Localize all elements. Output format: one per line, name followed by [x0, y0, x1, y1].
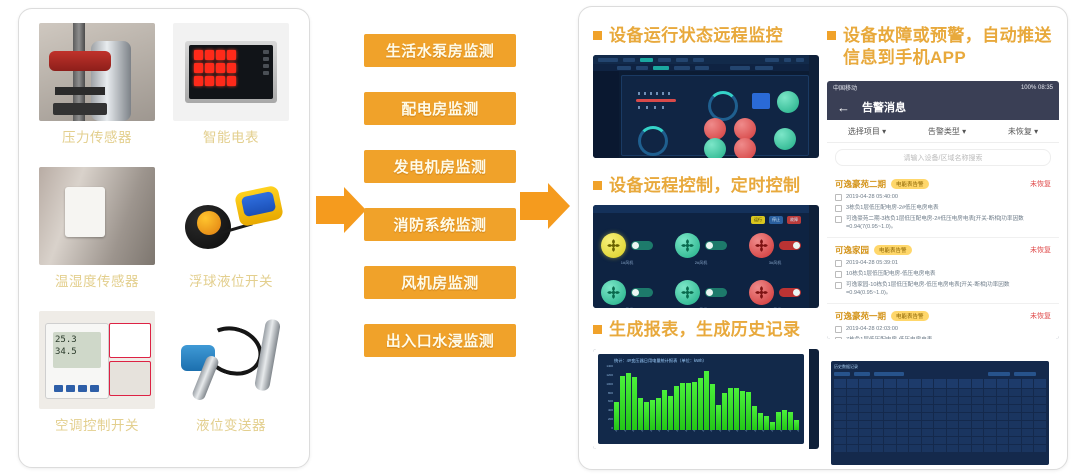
- platform-feature-panel: 设备运行状态远程监控: [578, 6, 1068, 470]
- sensor-label: 智能电表: [203, 126, 259, 146]
- dashboard-screenshot[interactable]: [593, 55, 819, 158]
- alarm-detail: 可逸家园-10栋负1层低压配电房-低压电房电表[开关-断相]功率因数=0.94(…: [846, 281, 1051, 297]
- table-header-cell: [909, 379, 921, 388]
- alarm-badge: 电能表告警: [891, 311, 929, 321]
- table-cell: [947, 429, 959, 436]
- table-cell: [972, 405, 984, 412]
- table-cell: [984, 445, 996, 452]
- chart-y-tick: 600: [608, 399, 613, 403]
- table-cell: [922, 389, 934, 396]
- table-cell: [972, 397, 984, 404]
- table-cell: [884, 389, 896, 396]
- legend-running: 运行: [751, 216, 765, 224]
- feature-block-remote-monitoring: 设备运行状态远程监控: [593, 25, 819, 158]
- table-header-cell: [872, 379, 884, 388]
- sensor-device-panel: 压力传感器 智能电表 温湿度传感器: [18, 8, 310, 468]
- table-header-cell: [984, 379, 996, 388]
- table-cell: [922, 397, 934, 404]
- fan-icon: [601, 233, 626, 258]
- scenario-list: 生活水泵房监测 配电房监测 发电机房监测 消防系统监测 风机房监测 出入口水浸监…: [364, 34, 516, 357]
- fan-icon: [749, 233, 774, 258]
- monitoring-scenario-column: 生活水泵房监测 配电房监测 发电机房监测 消防系统监测 风机房监测 出入口水浸监…: [352, 0, 564, 474]
- table-cell: [1022, 405, 1034, 412]
- table-cell: [934, 437, 946, 444]
- chart-bar: [752, 406, 757, 430]
- table-cell: [909, 405, 921, 412]
- chart-bar: [746, 392, 751, 430]
- table-cell: [972, 429, 984, 436]
- control-unit[interactable]: 3#风机: [749, 233, 801, 266]
- phone-page-title: 告警消息: [862, 99, 906, 115]
- table-header-cell: [1034, 379, 1046, 388]
- table-cell: [997, 429, 1009, 436]
- alarm-time: 2019-04-28 02:03:00: [846, 325, 898, 333]
- unit-label: 2#风机: [675, 260, 727, 266]
- alarm-project: 可逸家园: [835, 244, 869, 256]
- history-table-block: 历史数据记录: [827, 357, 1053, 469]
- table-cell: [959, 405, 971, 412]
- table-header-cell: [934, 379, 946, 388]
- sensor-grid: 压力传感器 智能电表 温湿度传感器: [19, 9, 309, 467]
- alarm-badge: 电能表告警: [874, 245, 912, 255]
- clock-icon: [835, 326, 842, 333]
- control-unit[interactable]: 5#风机: [675, 280, 727, 308]
- table-header-cell: [847, 379, 859, 388]
- table-cell: [834, 421, 846, 428]
- table-cell: [909, 397, 921, 404]
- chart-y-tick: 0: [611, 426, 613, 430]
- table-cell: [1034, 413, 1046, 420]
- table-cell: [847, 413, 859, 420]
- report-chart-screenshot[interactable]: 统计：4#变压器日用电量统计报表（单位：kWh） 140012001000800…: [593, 349, 819, 449]
- table-cell: [909, 413, 921, 420]
- chart-y-tick: 200: [608, 417, 613, 421]
- chart-bar: [686, 383, 691, 430]
- table-cell: [1022, 437, 1034, 444]
- feature-block-reports: 生成报表，生成历史记录 统计：4#变压器日用电量统计报表（单位：kWh） 140…: [593, 319, 819, 449]
- table-cell: [922, 405, 934, 412]
- feature-block-alarm-push: 设备故障或预警，自动推送信息到手机APP 中国移动 100% 08:35 ← 告…: [827, 25, 1059, 339]
- table-cell: [997, 445, 1009, 452]
- table-cell: [959, 389, 971, 396]
- table-cell: [947, 405, 959, 412]
- bullet-square-icon: [593, 325, 602, 334]
- chart-bar: [626, 373, 631, 430]
- alarm-detail: 可逸豪苑二期-3栋负1层低压配电房-2#低压电房电表[开关-断相]功率因数=0.…: [846, 215, 1051, 231]
- table-cell: [884, 397, 896, 404]
- table-cell: [997, 405, 1009, 412]
- unit-label: 5#风机: [675, 307, 727, 308]
- alarm-list-item[interactable]: 可逸家园 电能表告警 未恢复 2019-04-28 05:39:01 10栋负1…: [827, 238, 1059, 304]
- sensor-card-smart-meter[interactable]: 智能电表: [165, 23, 297, 165]
- table-cell: [884, 405, 896, 412]
- air-conditioner-control-switch-photo: 25.3 34.5: [39, 311, 155, 409]
- table-cell: [884, 429, 896, 436]
- table-cell: [922, 421, 934, 428]
- table-cell: [897, 389, 909, 396]
- table-cell: [909, 445, 921, 452]
- unit-label: 4#风机: [601, 307, 653, 308]
- table-cell: [947, 397, 959, 404]
- power-toggle[interactable]: [631, 288, 653, 297]
- clock-icon: [835, 194, 842, 201]
- phone-search-input[interactable]: 请输入设备/区域名称搜索: [835, 149, 1051, 166]
- sensor-card-pressure[interactable]: 压力传感器: [31, 23, 163, 165]
- sensor-card-float-switch[interactable]: 浮球液位开关: [165, 167, 297, 309]
- bullet-square-icon: [593, 181, 602, 190]
- table-cell: [1034, 429, 1046, 436]
- table-cell: [834, 413, 846, 420]
- chart-bar: [680, 383, 685, 430]
- table-cell: [1009, 389, 1021, 396]
- alarm-status: 未恢复: [1030, 179, 1051, 189]
- control-unit[interactable]: 1#风机: [601, 233, 653, 266]
- table-cell: [947, 445, 959, 452]
- alarm-list-item[interactable]: 可逸豪苑一期 电能表告警 未恢复 2019-04-28 02:03:00 7栋负…: [827, 304, 1059, 339]
- table-cell: [947, 389, 959, 396]
- table-cell: [909, 429, 921, 436]
- table-cell: [1034, 405, 1046, 412]
- alarm-status: 未恢复: [1030, 245, 1051, 255]
- table-cell: [1009, 421, 1021, 428]
- bullet-square-icon: [593, 31, 602, 40]
- table-cell: [884, 421, 896, 428]
- table-cell: [872, 421, 884, 428]
- section-title: 设备故障或预警，自动推送信息到手机APP: [843, 25, 1059, 69]
- fan-icon: [675, 280, 700, 305]
- sensor-label: 浮球液位开关: [189, 270, 273, 290]
- smart-meter-photo: [173, 23, 289, 121]
- control-screenshot[interactable]: 运行 停止 故障 1#风机: [593, 205, 819, 308]
- table-cell: [959, 437, 971, 444]
- table-cell: [959, 445, 971, 452]
- table-row[interactable]: [834, 421, 1046, 428]
- chart-bar: [722, 393, 727, 430]
- chart-y-tick: 1400: [606, 364, 613, 368]
- chart-bar: [764, 416, 769, 430]
- table-row[interactable]: [834, 445, 1046, 452]
- float-level-switch-photo: [173, 167, 289, 265]
- table-cell: [872, 437, 884, 444]
- scenario-item-entrance-flood[interactable]: 出入口水浸监测: [364, 324, 516, 357]
- table-cell: [834, 397, 846, 404]
- chart-y-tick: 800: [608, 391, 613, 395]
- chart-bar: [704, 371, 709, 430]
- table-cell: [897, 437, 909, 444]
- table-cell: [872, 445, 884, 452]
- table-cell: [922, 445, 934, 452]
- table-row[interactable]: [834, 429, 1046, 436]
- table-cell: [947, 421, 959, 428]
- table-cell: [934, 397, 946, 404]
- table-cell: [897, 405, 909, 412]
- chart-y-axis: 1400120010008006004002000: [600, 364, 613, 430]
- table-cell: [859, 429, 871, 436]
- table-cell: [884, 413, 896, 420]
- alarm-time: 2019-04-28 05:40:00: [846, 193, 898, 201]
- battery-time-label: 100% 08:35: [1021, 85, 1053, 91]
- table-header-cell: [859, 379, 871, 388]
- scenario-item-fan-room[interactable]: 风机房监测: [364, 266, 516, 299]
- chart-bar: [788, 412, 793, 430]
- table-cell: [847, 429, 859, 436]
- table-cell: [1009, 413, 1021, 420]
- table-cell: [1022, 389, 1034, 396]
- legend-stopped: 停止: [769, 216, 783, 224]
- unit-label: 6#风机: [749, 307, 801, 308]
- fan-icon: [749, 280, 774, 305]
- chart-bar: [674, 386, 679, 430]
- alarm-device: 7栋负1层低压配电房-低压电房电表: [846, 336, 932, 339]
- sensor-label: 温湿度传感器: [55, 270, 139, 290]
- table-row[interactable]: [834, 437, 1046, 444]
- chart-bar: [740, 391, 745, 430]
- table-cell: [834, 437, 846, 444]
- chart-bar: [650, 400, 655, 430]
- device-icon: [835, 271, 842, 278]
- table-cell: [922, 429, 934, 436]
- control-unit[interactable]: 4#风机: [601, 280, 653, 308]
- table-cell: [984, 429, 996, 436]
- chart-y-tick: 1000: [606, 382, 613, 386]
- table-cell: [884, 445, 896, 452]
- table-cell: [872, 405, 884, 412]
- table-cell: [1009, 429, 1021, 436]
- alarm-status: 未恢复: [1030, 311, 1051, 321]
- table-cell: [897, 445, 909, 452]
- table-cell: [1009, 405, 1021, 412]
- table-cell: [972, 445, 984, 452]
- info-icon: [835, 216, 842, 223]
- table-header-cell: [947, 379, 959, 388]
- alarm-project: 可逸豪苑一期: [835, 310, 886, 322]
- phone-status-bar: 中国移动 100% 08:35: [827, 81, 1059, 94]
- table-cell: [1009, 397, 1021, 404]
- table-header-cell: [997, 379, 1009, 388]
- table-row[interactable]: [834, 405, 1046, 412]
- table-cell: [934, 429, 946, 436]
- phone-filter-bar: 选择项目 ▾ 告警类型 ▾ 未恢复 ▾: [827, 120, 1059, 143]
- chart-bar: [692, 382, 697, 430]
- chart-bar: [770, 422, 775, 430]
- table-cell: [847, 397, 859, 404]
- table-cell: [859, 421, 871, 428]
- table-cell: [959, 397, 971, 404]
- power-toggle[interactable]: [705, 241, 727, 250]
- table-cell: [1034, 437, 1046, 444]
- power-toggle[interactable]: [779, 288, 801, 297]
- table-cell: [834, 389, 846, 396]
- table-cell: [897, 429, 909, 436]
- table-cell: [834, 445, 846, 452]
- table-cell: [859, 397, 871, 404]
- table-cell: [1009, 437, 1021, 444]
- device-icon: [835, 205, 842, 212]
- fan-icon: [601, 280, 626, 305]
- power-toggle[interactable]: [779, 241, 801, 250]
- table-title: 历史数据记录: [834, 364, 1046, 370]
- table-cell: [897, 397, 909, 404]
- pressure-sensor-photo: [39, 23, 155, 121]
- table-cell: [1009, 445, 1021, 452]
- chart-bar: [662, 390, 667, 430]
- table-cell: [997, 421, 1009, 428]
- carrier-label: 中国移动: [833, 83, 857, 92]
- scenario-item-water-pump[interactable]: 生活水泵房监测: [364, 34, 516, 67]
- chart-bar: [782, 410, 787, 430]
- table-cell: [947, 413, 959, 420]
- table-header-cell: [922, 379, 934, 388]
- table-cell: [909, 437, 921, 444]
- scenario-item-generator-room[interactable]: 发电机房监测: [364, 150, 516, 183]
- phone-app-screenshot[interactable]: 中国移动 100% 08:35 ← 告警消息 选择项目 ▾ 告警类型 ▾ 未恢复…: [827, 81, 1059, 339]
- chart-y-tick: 1200: [606, 373, 613, 377]
- unit-label: 3#风机: [749, 260, 801, 266]
- table-cell: [959, 413, 971, 420]
- table-cell: [847, 437, 859, 444]
- filter-project[interactable]: 选择项目 ▾: [848, 126, 886, 137]
- chart-bar: [716, 405, 721, 430]
- chart-bar: [728, 388, 733, 430]
- scenario-item-fire-system[interactable]: 消防系统监测: [364, 208, 516, 241]
- alarm-device: 3栋负1层低压配电房-2#低压电房电表: [846, 204, 939, 212]
- alarm-device: 10栋负1层低压配电房-低压电房电表: [846, 270, 936, 278]
- table-cell: [947, 437, 959, 444]
- table-cell: [959, 429, 971, 436]
- sensor-label: 压力传感器: [62, 126, 132, 146]
- table-cell: [934, 389, 946, 396]
- chart-bar: [710, 384, 715, 430]
- table-cell: [847, 421, 859, 428]
- sensor-card-level-transmitter[interactable]: 液位变送器: [165, 311, 297, 453]
- table-cell: [847, 405, 859, 412]
- info-icon: [835, 282, 842, 289]
- table-cell: [1022, 413, 1034, 420]
- table-cell: [1034, 421, 1046, 428]
- table-cell: [847, 445, 859, 452]
- table-header-cell: [897, 379, 909, 388]
- section-title: 设备运行状态远程监控: [609, 25, 783, 47]
- filter-alarm-type[interactable]: 告警类型 ▾: [928, 126, 966, 137]
- table-cell: [934, 413, 946, 420]
- table-cell: [984, 437, 996, 444]
- filter-status[interactable]: 未恢复 ▾: [1008, 126, 1038, 137]
- table-cell: [984, 405, 996, 412]
- table-header-cell: [884, 379, 896, 388]
- device-icon: [835, 337, 842, 339]
- table-cell: [872, 397, 884, 404]
- chart-y-tick: 400: [608, 408, 613, 412]
- table-header-cell: [1022, 379, 1034, 388]
- table-cell: [972, 413, 984, 420]
- table-cell: [922, 437, 934, 444]
- alarm-badge: 电能表告警: [891, 179, 929, 189]
- chart-bars: [614, 366, 799, 430]
- chart-bar: [698, 378, 703, 430]
- table-header-cell: [834, 379, 846, 388]
- table-header-cell: [959, 379, 971, 388]
- table-header-cell: [1009, 379, 1021, 388]
- table-cell: [1022, 397, 1034, 404]
- sensor-card-ac-switch[interactable]: 25.3 34.5 空调控制开关: [31, 311, 163, 453]
- chart-bar: [614, 402, 619, 430]
- scenario-item-power-room[interactable]: 配电房监测: [364, 92, 516, 125]
- table-cell: [984, 397, 996, 404]
- table-cell: [934, 445, 946, 452]
- alarm-list-item[interactable]: 可逸豪苑二期 电能表告警 未恢复 2019-04-28 05:40:00 3栋负…: [827, 172, 1059, 238]
- fan-icon: [675, 233, 700, 258]
- sensor-label: 液位变送器: [196, 414, 266, 434]
- chart-bar: [620, 376, 625, 430]
- chart-bar: [638, 398, 643, 430]
- table-cell: [984, 389, 996, 396]
- table-cell: [859, 445, 871, 452]
- table-cell: [834, 405, 846, 412]
- chart-bar: [758, 413, 763, 430]
- table-cell: [859, 437, 871, 444]
- section-title: 设备远程控制，定时控制: [609, 175, 800, 197]
- chart-title: 统计：4#变压器日用电量统计报表（单位：kWh）: [602, 358, 800, 364]
- control-unit[interactable]: 2#风机: [675, 233, 727, 266]
- ac-lcd-reading: 25.3 34.5: [53, 332, 101, 368]
- table-cell: [909, 421, 921, 428]
- table-cell: [972, 437, 984, 444]
- chart-bar: [794, 420, 799, 431]
- phone-navbar: ← 告警消息: [827, 94, 1059, 120]
- history-table-screenshot[interactable]: 历史数据记录: [827, 357, 1053, 469]
- table-cell: [1022, 421, 1034, 428]
- legend-fault: 故障: [787, 216, 801, 224]
- table-cell: [972, 421, 984, 428]
- table-row[interactable]: [834, 397, 1046, 404]
- table-cell: [1022, 445, 1034, 452]
- table-cell: [972, 389, 984, 396]
- table-cell: [897, 421, 909, 428]
- table-cell: [922, 413, 934, 420]
- table-cell: [859, 405, 871, 412]
- power-toggle[interactable]: [705, 288, 727, 297]
- table-cell: [1034, 445, 1046, 452]
- feature-block-remote-control: 设备远程控制，定时控制 运行 停止 故障: [593, 175, 819, 308]
- table-cell: [934, 421, 946, 428]
- table-cell: [897, 413, 909, 420]
- control-unit[interactable]: 6#风机: [749, 280, 801, 308]
- table-cell: [959, 421, 971, 428]
- table-cell: [859, 413, 871, 420]
- table-cell: [834, 429, 846, 436]
- alarm-time: 2019-04-28 05:39:01: [846, 259, 898, 267]
- table-cell: [884, 437, 896, 444]
- table-cell: [997, 413, 1009, 420]
- poster-stage: 压力传感器 智能电表 温湿度传感器: [0, 0, 1080, 474]
- chart-bar: [668, 396, 673, 430]
- table-cell: [1022, 429, 1034, 436]
- table-cell: [997, 437, 1009, 444]
- chart-bar: [776, 412, 781, 430]
- table-cell: [997, 389, 1009, 396]
- table-row[interactable]: [834, 389, 1046, 396]
- table-cell: [984, 421, 996, 428]
- back-arrow-icon[interactable]: ←: [837, 101, 850, 114]
- sensor-card-humidity[interactable]: 温湿度传感器: [31, 167, 163, 309]
- table-cell: [984, 413, 996, 420]
- table-row[interactable]: [834, 413, 1046, 420]
- table-grid: [834, 379, 1046, 462]
- table-cell: [872, 429, 884, 436]
- power-toggle[interactable]: [631, 241, 653, 250]
- chart-bar: [644, 402, 649, 430]
- table-cell: [1034, 389, 1046, 396]
